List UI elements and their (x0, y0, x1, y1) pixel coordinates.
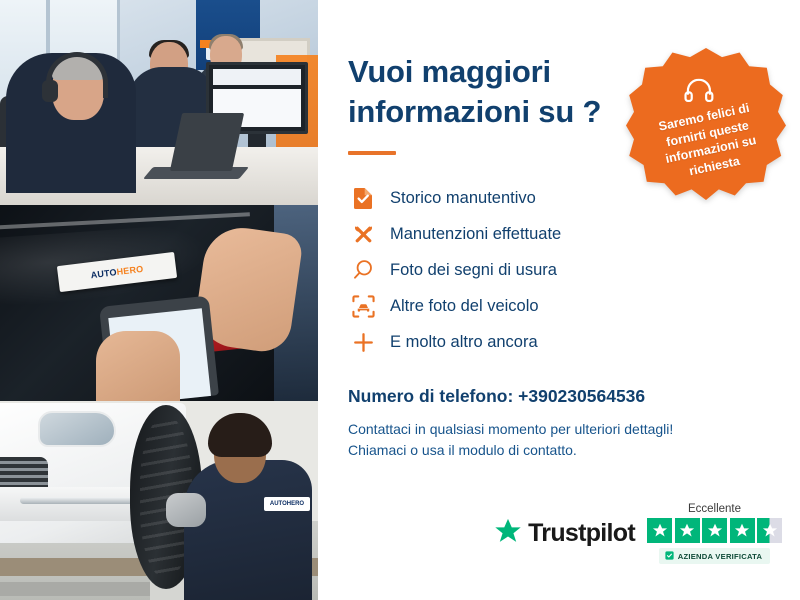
content-panel: Vuoi maggiori informazioni su ? Saremo f… (318, 0, 800, 600)
car-bumper-shape (0, 487, 146, 521)
checklist-document-icon (348, 187, 378, 210)
contact-line-2: Chiamaci o usa il modulo di contatto. (348, 440, 760, 462)
feature-list: Storico manutentivo Manutenzioni effettu… (348, 181, 760, 360)
title-divider (348, 151, 396, 155)
car-headlight-shape (38, 411, 116, 447)
contact-block: Numero di telefono: +390230564536 Contat… (348, 386, 760, 462)
verified-business-label: AZIENDA VERIFICATA (678, 552, 763, 561)
list-item-label: E molto altro ancora (390, 333, 538, 352)
car-lift-shape (0, 582, 150, 596)
list-item-label: Altre foto del veicolo (390, 297, 539, 316)
monitor-stand-shape (248, 134, 266, 148)
car-scan-frame-icon (348, 295, 378, 318)
verified-business-badge: AZIENDA VERIFICATA (659, 548, 771, 564)
vehicle-inspection-photo: AUTOHERO (0, 205, 318, 401)
workshop-tire-check-photo: AUTOHERO (0, 401, 318, 600)
star-filled-icon (647, 518, 672, 543)
trustpilot-star-icon (493, 517, 523, 551)
tools-wrench-screwdriver-icon (348, 223, 378, 246)
plus-icon (348, 331, 378, 354)
page-title: Vuoi maggiori informazioni su ? (348, 52, 648, 133)
chrome-trim-shape (20, 497, 140, 504)
trustpilot-widget[interactable]: Trustpilot Eccellente (493, 503, 782, 564)
check-circle-icon (665, 551, 674, 562)
uniform-logo-badge: AUTOHERO (264, 497, 310, 511)
call-center-agents-photo (0, 0, 318, 205)
list-item-label: Manutenzioni effettuate (390, 225, 561, 244)
autohero-ruler-label: AUTOHERO (90, 264, 144, 280)
list-item-label: Foto dei segni di usura (390, 261, 557, 280)
brand-text-auto: AUTO (90, 267, 117, 280)
trustpilot-rating-area: Eccellente (647, 503, 782, 564)
brand-text-hero: HERO (116, 264, 144, 277)
mechanic-glove-shape (166, 493, 206, 527)
magnifier-icon (348, 259, 378, 281)
star-filled-icon (730, 518, 755, 543)
list-item-label: Storico manutentivo (390, 189, 536, 208)
trustpilot-brand-label: Trustpilot (528, 519, 635, 548)
inspector-second-hand-shape (96, 331, 180, 401)
trustpilot-stars (647, 518, 782, 543)
list-item: Altre foto del veicolo (348, 289, 760, 324)
photo-column: AUTOHERO AUTOHERO (0, 0, 318, 600)
headset-icon (684, 78, 714, 107)
star-filled-icon (702, 518, 727, 543)
list-item: Manutenzioni effettuate (348, 217, 760, 252)
star-half-icon (757, 518, 782, 543)
star-filled-icon (675, 518, 700, 543)
list-item: Foto dei segni di usura (348, 253, 760, 288)
trustpilot-brand: Trustpilot (493, 517, 635, 551)
agent-one-headset-earcup-shape (42, 80, 58, 102)
availability-badge: Saremo felici di fornirti queste informa… (626, 48, 786, 200)
laptop-screen-shape (170, 113, 244, 171)
list-item: E molto altro ancora (348, 325, 760, 360)
trustpilot-rating-label: Eccellente (688, 503, 741, 515)
contact-line-1: Contattaci in qualsiasi momento per ulte… (348, 419, 760, 441)
phone-number-label[interactable]: Numero di telefono: +390230564536 (348, 386, 760, 407)
contact-info-banner: AUTOHERO AUTOHERO Vuoi maggio (0, 0, 800, 600)
